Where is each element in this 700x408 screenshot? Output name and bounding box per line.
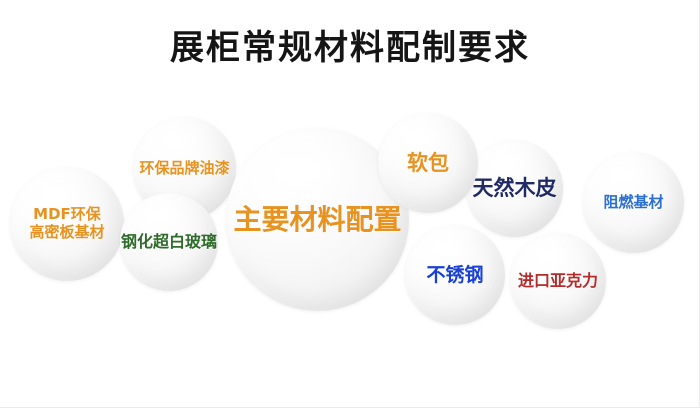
bubble-imported-acrylic[interactable]: 进口亚克力: [510, 233, 606, 329]
bubble-natural-veneer[interactable]: 天然木皮: [466, 140, 563, 237]
bubble-label-tempered-glass: 钢化超白玻璃: [121, 233, 217, 252]
bubble-label-imported-acrylic: 进口亚克力: [518, 272, 598, 291]
bubble-stainless-steel[interactable]: 不锈钢: [405, 225, 505, 325]
bubble-soft-pack[interactable]: 软包: [378, 113, 478, 213]
bubble-label-flame-retardant: 阻燃基材: [603, 194, 663, 212]
slide-canvas: 展柜常规材料配制要求 MDF环保 高密板基材环保品牌油漆钢化超白玻璃主要材料配置…: [0, 0, 700, 408]
bubble-flame-retardant[interactable]: 阻燃基材: [583, 152, 684, 253]
bubble-tempered-glass[interactable]: 钢化超白玻璃: [120, 193, 218, 291]
bubble-label-eco-paint: 环保品牌油漆: [139, 160, 229, 178]
bubble-cluster: MDF环保 高密板基材环保品牌油漆钢化超白玻璃主要材料配置软包天然木皮阻燃基材不…: [0, 0, 700, 408]
bubble-label-soft-pack: 软包: [407, 151, 449, 176]
bubble-label-stainless-steel: 不锈钢: [426, 264, 483, 286]
bubble-mdf-board[interactable]: MDF环保 高密板基材: [10, 167, 124, 281]
bubble-label-natural-veneer: 天然木皮: [473, 176, 557, 201]
bubble-label-mdf-board: MDF环保 高密板基材: [29, 206, 104, 241]
bubble-label-main-materials: 主要材料配置: [233, 203, 401, 236]
